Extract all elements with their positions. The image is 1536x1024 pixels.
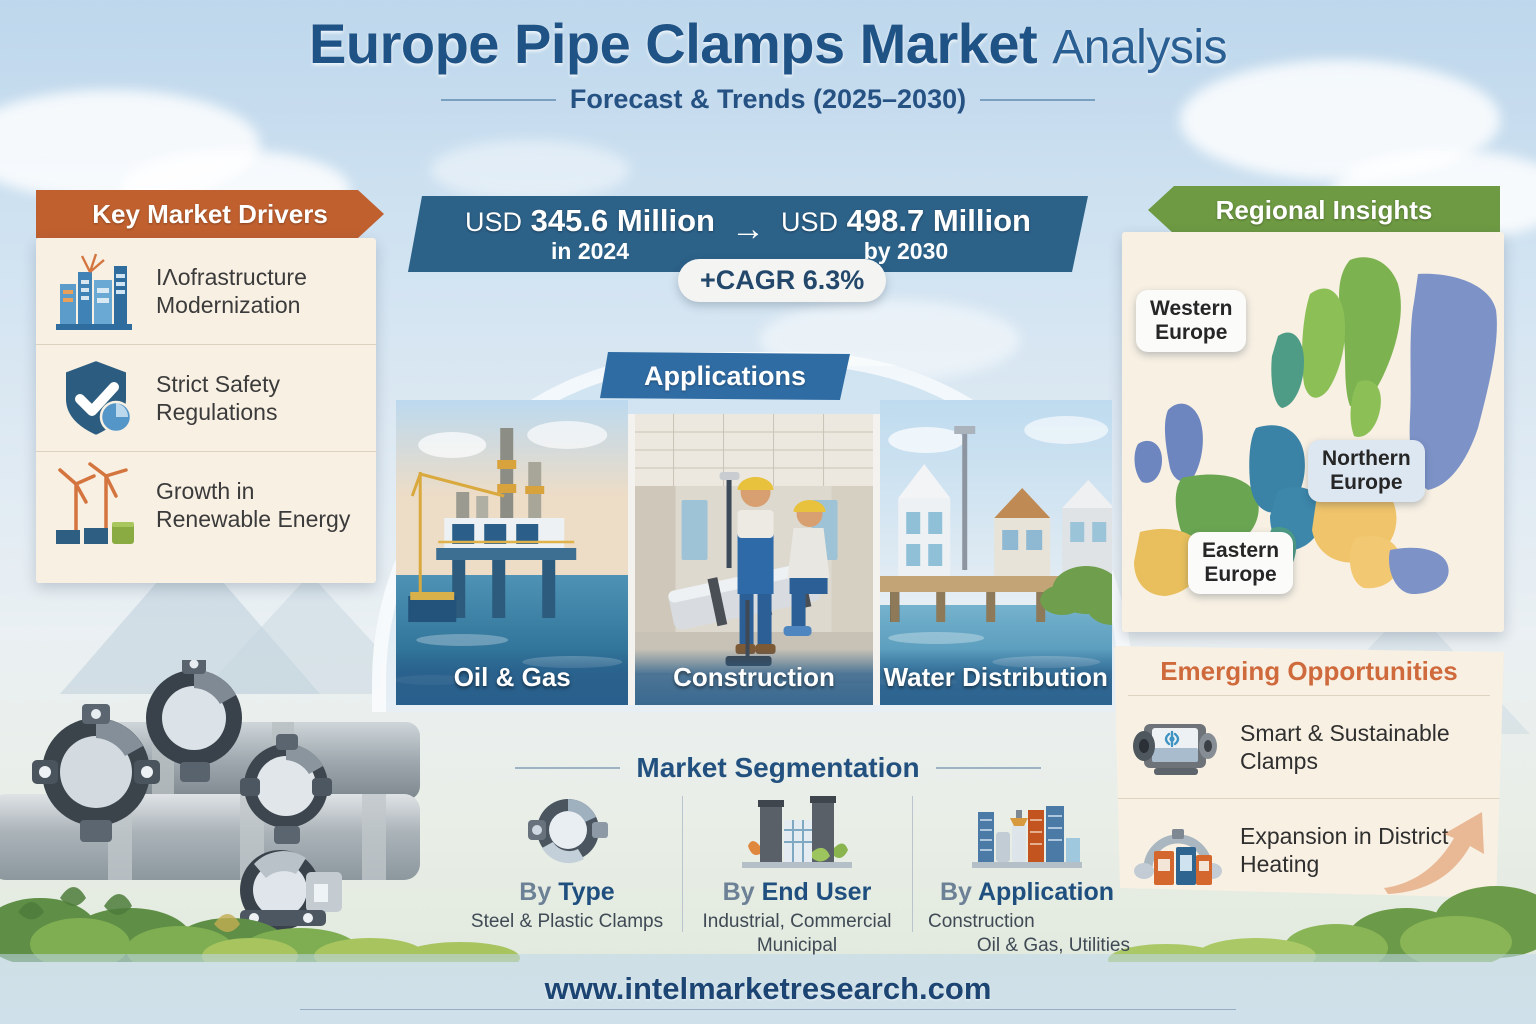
region-label-line1: Northern — [1322, 447, 1411, 471]
footer-bar: www.intelmarketresearch.com — [0, 954, 1536, 1024]
segmentation-rule-left — [515, 767, 620, 769]
industrial-plant-icon — [52, 248, 140, 334]
year-2024: in 2024 — [465, 239, 715, 263]
region-label-northern-europe[interactable]: Northern Europe — [1308, 440, 1425, 502]
opportunity-label: Smart & Sustainable Clamps — [1240, 719, 1488, 775]
regional-banner-label: Regional Insights — [1216, 195, 1433, 226]
foliage-right — [1106, 842, 1536, 962]
page-title-bold: Europe Pipe Clamps Market — [309, 12, 1037, 75]
drivers-panel: IΛofrastructure Modernization Strict Saf… — [36, 238, 376, 583]
value-2024: 345.6 Million — [531, 203, 715, 238]
segmentation-prefix: By — [723, 878, 762, 906]
segmentation-columns: By Type Steel & Plastic Clamps By End — [452, 790, 1142, 960]
segmentation-rule-right — [936, 767, 1041, 769]
shield-check-icon — [52, 355, 140, 441]
region-label-line2: Europe — [1322, 471, 1411, 495]
applications-row: Oil & Gas — [396, 400, 1112, 705]
subtitle-rule-right — [980, 99, 1095, 101]
usd-label-2024: USD — [465, 207, 522, 237]
subtitle-row: Forecast & Trends (2025–2030) — [0, 84, 1536, 115]
page-title: Europe Pipe Clamps Market Analysis — [0, 14, 1536, 74]
opportunities-title: Emerging Opportunities — [1114, 646, 1504, 695]
foliage-left — [0, 832, 520, 962]
usd-label-2030: USD — [781, 207, 838, 237]
segmentation-column-end-user[interactable]: By End User Industrial, Commercial Munic… — [682, 790, 912, 960]
region-label-western-europe[interactable]: Western Europe — [1136, 290, 1246, 352]
smart-clamp-icon — [1130, 708, 1226, 786]
segmentation-desc: Construction — [920, 909, 1134, 935]
segmentation-name: End User — [762, 878, 872, 906]
refinery-icon — [920, 790, 1134, 868]
application-label-oil-gas: Oil & Gas — [396, 649, 628, 705]
drivers-banner-label: Key Market Drivers — [92, 199, 328, 230]
application-label-construction: Construction — [635, 649, 872, 705]
segmentation-name: Application — [978, 878, 1114, 906]
application-card-water-distribution[interactable]: Water Distribution — [880, 400, 1112, 705]
segmentation-prefix: By — [940, 878, 978, 906]
growth-arrow-icon: → — [727, 210, 769, 249]
segmentation-heading: By Application — [920, 878, 1134, 907]
market-value-2030: USD 498.7 Million by 2030 — [781, 205, 1031, 264]
cagr-badge: +CAGR 6.3% — [678, 259, 886, 302]
region-label-eastern-europe[interactable]: Eastern Europe — [1188, 532, 1293, 594]
driver-item-safety[interactable]: Strict Safety Regulations — [36, 344, 376, 451]
segmentation-heading: By Type — [460, 878, 674, 907]
region-label-line2: Europe — [1202, 563, 1279, 587]
driver-label: Strict Safety Regulations — [156, 370, 360, 426]
page-subtitle: Forecast & Trends (2025–2030) — [570, 84, 966, 115]
subtitle-rule-left — [441, 99, 556, 101]
segmentation-column-type[interactable]: By Type Steel & Plastic Clamps — [452, 790, 682, 960]
driver-label: IΛofrastructure Modernization — [156, 263, 360, 319]
application-card-construction[interactable]: Construction — [628, 414, 879, 705]
segmentation-title: Market Segmentation — [636, 752, 919, 784]
applications-banner: Applications — [600, 352, 850, 400]
regional-panel: Western Europe Northern Europe Eastern E… — [1122, 232, 1504, 632]
region-label-line2: Europe — [1150, 321, 1232, 345]
market-value-2024: USD 345.6 Million in 2024 — [465, 205, 715, 264]
region-label-line1: Western — [1150, 297, 1232, 321]
wind-turbine-icon — [52, 462, 140, 548]
value-2030: 498.7 Million — [847, 203, 1031, 238]
application-label-water-distribution: Water Distribution — [880, 649, 1112, 705]
applications-banner-label: Applications — [644, 361, 806, 392]
segmentation-desc: Steel & Plastic Clamps — [460, 909, 674, 935]
segmentation-column-application[interactable]: By Application Construction Oil & Gas, U… — [912, 790, 1142, 960]
segmentation-prefix: By — [519, 878, 558, 906]
segmentation-name: Type — [558, 878, 615, 906]
region-label-line1: Eastern — [1202, 539, 1279, 563]
application-card-oil-gas[interactable]: Oil & Gas — [396, 400, 628, 705]
segmentation-heading: By End User — [690, 878, 904, 907]
segmentation-title-row: Market Segmentation — [448, 752, 1108, 784]
segmentation-desc: Industrial, Commercial — [690, 909, 904, 935]
footer-rule — [300, 1009, 1236, 1010]
opportunity-item-smart-clamps[interactable]: Smart & Sustainable Clamps — [1114, 696, 1504, 798]
driver-item-infrastructure[interactable]: IΛofrastructure Modernization — [36, 238, 376, 344]
page-title-block: Europe Pipe Clamps Market Analysis Forec… — [0, 14, 1536, 115]
driver-item-renewable[interactable]: Growth in Renewable Energy — [36, 451, 376, 558]
drivers-banner: Key Market Drivers — [36, 190, 384, 238]
page-title-light: Analysis — [1052, 21, 1227, 74]
footer-url[interactable]: www.intelmarketresearch.com — [545, 971, 992, 1007]
driver-label: Growth in Renewable Energy — [156, 477, 360, 533]
pipe-clamp-icon — [460, 790, 674, 868]
factory-icon — [690, 790, 904, 868]
regional-banner: Regional Insights — [1148, 186, 1500, 234]
